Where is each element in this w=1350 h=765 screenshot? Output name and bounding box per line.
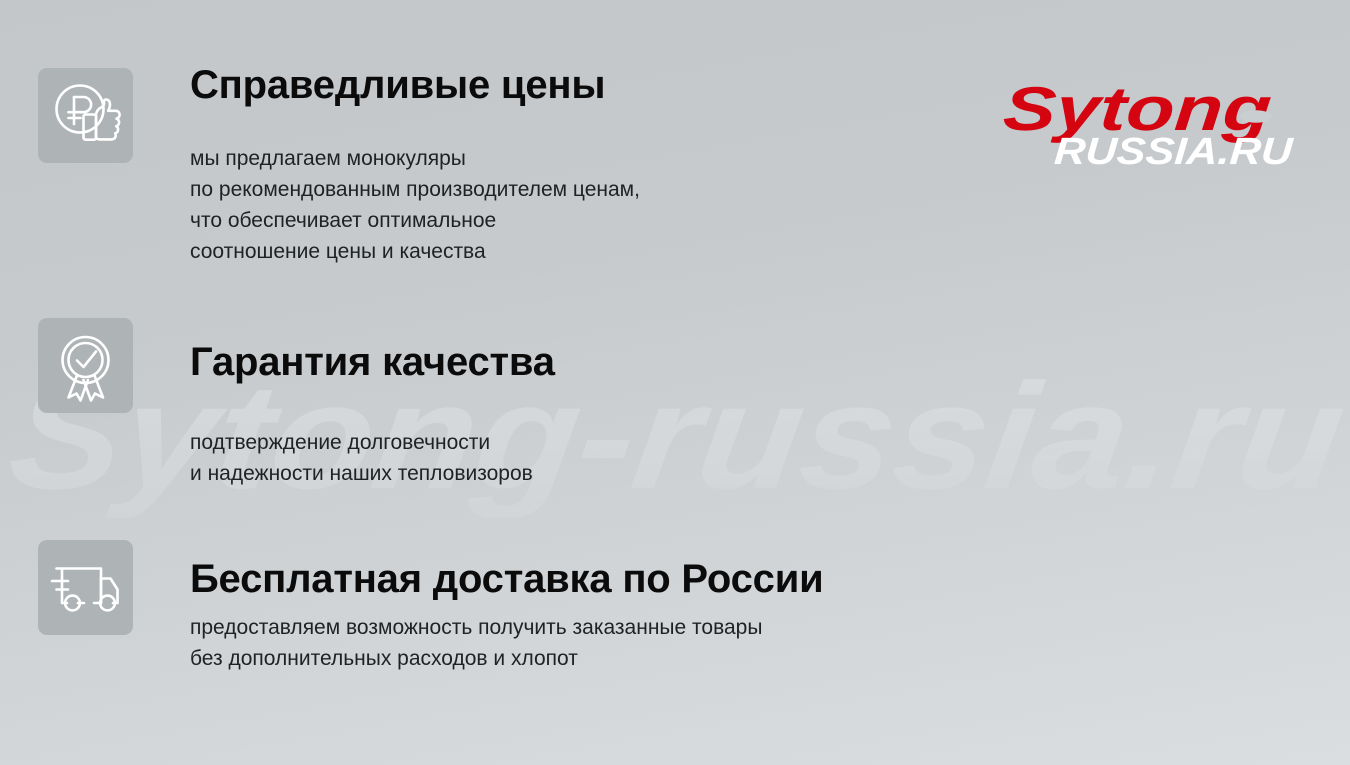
feature-body: подтверждение долговечности и надежности… bbox=[190, 427, 1000, 489]
feature-body-line: соотношение цены и качества bbox=[190, 236, 1000, 267]
brand-logo: Sytong RUSSIA.RU bbox=[1002, 72, 1302, 172]
feature-body-line: по рекомендованным производителем ценам, bbox=[190, 174, 1000, 205]
feature-body-line: что обеспечивает оптимальное bbox=[190, 205, 1000, 236]
feature-title: Бесплатная доставка по России bbox=[190, 556, 1000, 602]
ruble-thumbs-up-icon bbox=[38, 68, 133, 163]
feature-text: Гарантия качества подтверждение долговеч… bbox=[190, 339, 1000, 489]
feature-body-line: подтверждение долговечности bbox=[190, 427, 1000, 458]
brand-domain-text: RUSSIA.RU bbox=[1053, 131, 1296, 172]
feature-body-line: мы предлагаем монокуляры bbox=[190, 143, 1000, 174]
quality-badge-icon bbox=[38, 318, 133, 413]
promo-banner: Sytong-russia.ru bbox=[0, 0, 1350, 765]
delivery-truck-icon bbox=[38, 540, 133, 635]
feature-body-line: без дополнительных расходов и хлопот bbox=[190, 643, 1000, 674]
feature-body: предоставляем возможность получить заказ… bbox=[190, 612, 1000, 674]
svg-text:RUSSIA.RU: RUSSIA.RU bbox=[1053, 131, 1296, 172]
feature-body: мы предлагаем монокуляры по рекомендован… bbox=[190, 143, 1000, 267]
feature-title: Гарантия качества bbox=[190, 339, 1000, 385]
feature-text: Справедливые цены мы предлагаем монокуля… bbox=[190, 62, 1000, 267]
feature-text: Бесплатная доставка по России предоставл… bbox=[190, 556, 1000, 674]
feature-body-line: и надежности наших тепловизоров bbox=[190, 458, 1000, 489]
feature-title: Справедливые цены bbox=[190, 62, 1000, 108]
feature-body-line: предоставляем возможность получить заказ… bbox=[190, 612, 1000, 643]
